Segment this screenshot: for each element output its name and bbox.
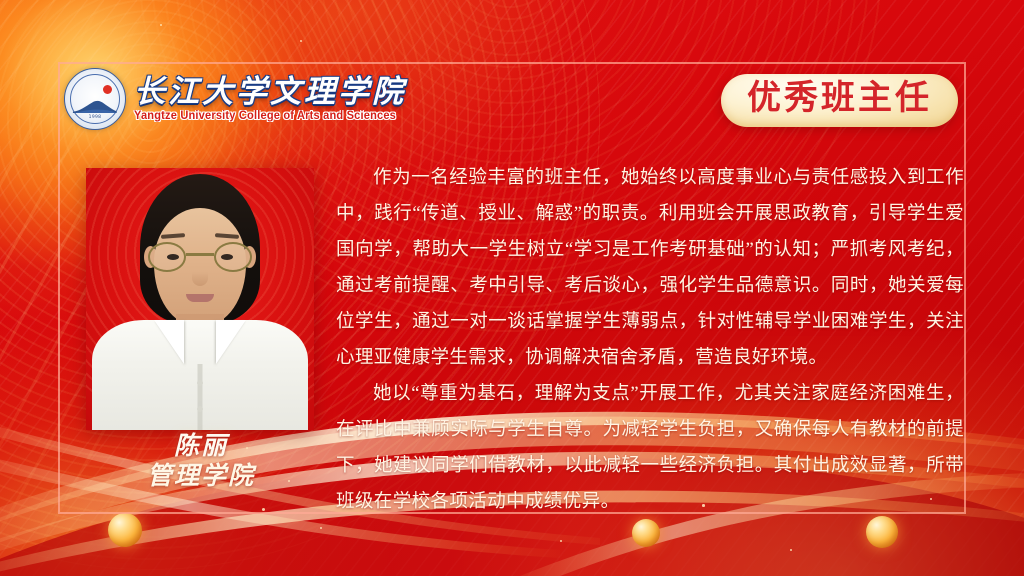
sparkle-dot: [790, 549, 792, 551]
emblem-mountain-icon: [72, 98, 118, 114]
sparkle-dot: [300, 40, 302, 42]
glasses-lens-left: [148, 242, 186, 272]
sparkle-dot: [262, 508, 265, 511]
profile-identity: 陈丽 管理学院: [86, 432, 316, 491]
gold-sphere-right: [866, 516, 898, 548]
profile-name: 陈丽: [86, 432, 316, 462]
emblem-year: 1998: [65, 115, 125, 120]
portrait-collar-left: [154, 320, 184, 364]
portrait-photo: [86, 168, 314, 430]
glasses-lens-right: [214, 242, 252, 272]
portrait-glasses-icon: [148, 242, 252, 272]
emblem-sun-icon: [103, 85, 112, 94]
university-emblem-icon: 1998: [64, 68, 126, 130]
logo-english-name: Yangtze University College of Arts and S…: [134, 110, 396, 122]
portrait-shirt-placket: [198, 364, 203, 430]
award-poster: 1998 长江大学文理学院 Yangtze University College…: [0, 0, 1024, 576]
sparkle-dot: [160, 24, 162, 26]
glasses-bridge: [186, 253, 214, 256]
citation-paragraph-2: 她以“尊重为基石，理解为支点”开展工作，尤其关注家庭经济困难生，在评比中兼顾实际…: [336, 376, 964, 520]
award-title-text: 优秀班主任: [747, 82, 932, 116]
sparkle-dot: [320, 527, 322, 529]
institution-logo: 1998 长江大学文理学院 Yangtze University College…: [64, 68, 407, 130]
gold-sphere-center: [632, 519, 660, 547]
gold-sphere-left: [108, 513, 142, 547]
portrait-shirt-button: [197, 406, 203, 412]
logo-wordmark: 长江大学文理学院 Yangtze University College of A…: [134, 76, 407, 123]
award-title-badge: 优秀班主任: [721, 74, 958, 127]
portrait-collar-right: [216, 320, 246, 364]
citation-paragraph-1: 作为一名经验丰富的班主任，她始终以高度事业心与责任感投入到工作中，践行“传道、授…: [336, 160, 964, 376]
portrait-mouth: [186, 294, 214, 302]
portrait-shirt-button: [197, 380, 203, 386]
logo-chinese-name: 长江大学文理学院: [134, 76, 407, 109]
sparkle-dot: [560, 540, 562, 542]
citation-body: 作为一名经验丰富的班主任，她始终以高度事业心与责任感投入到工作中，践行“传道、授…: [336, 160, 964, 520]
profile-department: 管理学院: [86, 462, 316, 492]
